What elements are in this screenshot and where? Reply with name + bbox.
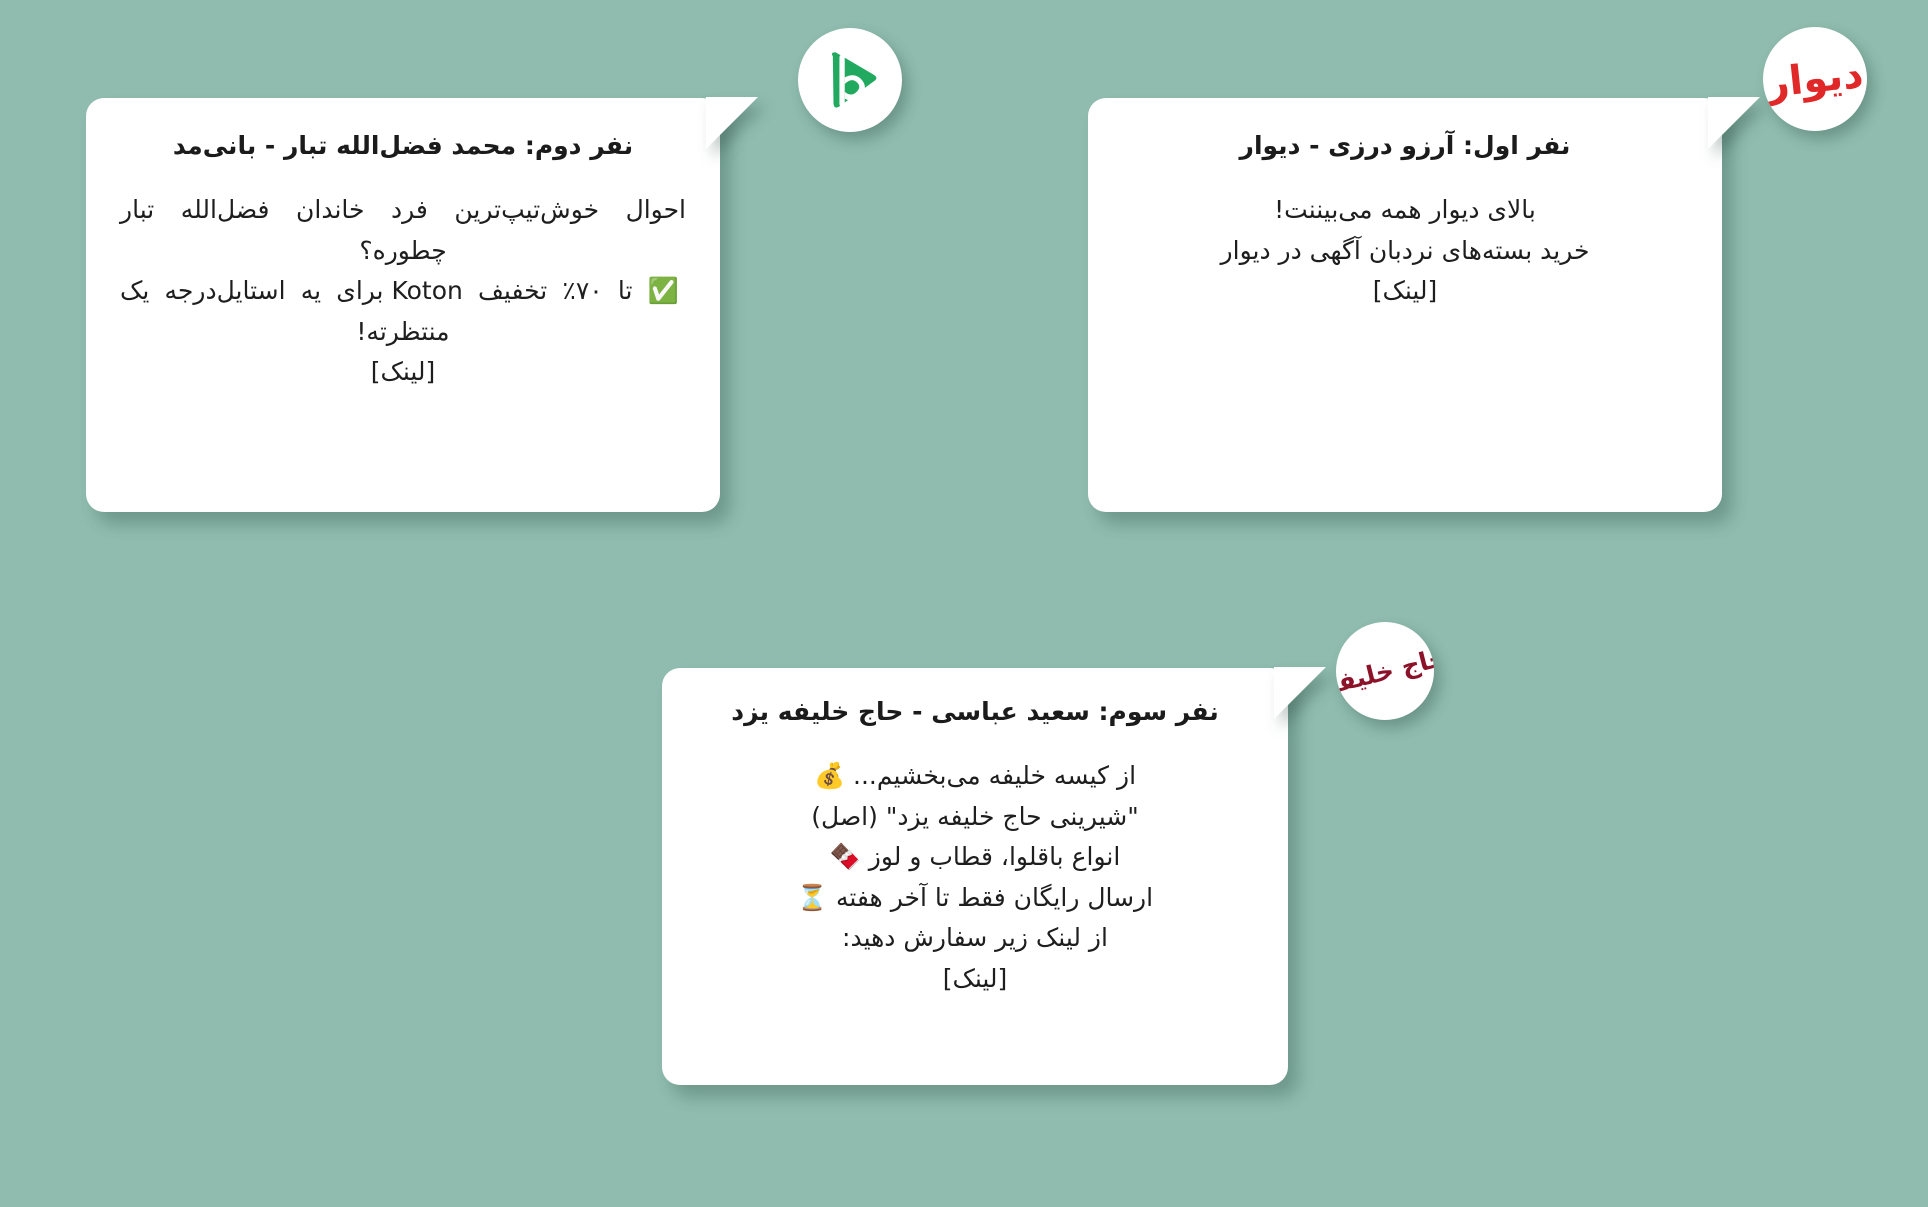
poster-canvas: نفر اول: آرزو درزی - دیوار بالای دیوار ه… (0, 0, 1928, 1207)
banimode-logo (798, 28, 902, 132)
bubble-tail-icon (1708, 97, 1760, 149)
bubble-content: نفر دوم: محمد فضل‌الله تبار - بانی‌مد اح… (86, 98, 720, 419)
divar-logo: دیوار (1763, 27, 1867, 131)
bubble-link[interactable]: [لینک] (696, 959, 1254, 1000)
divar-wordmark: دیوار (1764, 54, 1865, 104)
bubble-title: نفر سوم: سعید عباسی - حاج خلیفه یزد (696, 694, 1254, 730)
bubble-content: نفر اول: آرزو درزی - دیوار بالای دیوار ه… (1088, 98, 1722, 338)
bubble-tail-icon (706, 97, 758, 149)
haj-khalifeh-wordmark: حاج خلیفه (1336, 644, 1434, 699)
haj-khalifeh-logo: حاج خلیفه (1336, 622, 1434, 720)
bubble-link[interactable]: [لینک] (1122, 271, 1688, 312)
bubble-title: نفر اول: آرزو درزی - دیوار (1122, 128, 1688, 164)
bubble-body: احوال خوش‌تیپ‌ترین فرد خاندان فضل‌الله ت… (120, 190, 686, 393)
bubble-line: احوال خوش‌تیپ‌ترین فرد خاندان فضل‌الله ت… (120, 190, 686, 271)
bubble-title: نفر دوم: محمد فضل‌الله تبار - بانی‌مد (120, 128, 686, 164)
bubble-body: بالای دیوار همه می‌بیننت! خرید بسته‌های … (1122, 190, 1688, 312)
bubble-tail-icon (1274, 667, 1326, 719)
bubble-line: بالای دیوار همه می‌بیننت! (1122, 190, 1688, 231)
bubble-line: ✅ تا ۷۰٪ تخفیف Koton برای یه استایل‌درجه… (120, 271, 686, 352)
bubble-line: از لینک زیر سفارش دهید: (696, 918, 1254, 959)
bubble-content: نفر سوم: سعید عباسی - حاج خلیفه یزد از ک… (662, 668, 1288, 1025)
bubble-line: انواع باقلوا، قطاب و لوز 🍫 (696, 837, 1254, 878)
speech-bubble-divar: نفر اول: آرزو درزی - دیوار بالای دیوار ه… (1088, 98, 1722, 512)
banimode-b-play-icon (817, 47, 883, 113)
bubble-line: خرید بسته‌های نردبان آگهی در دیوار (1122, 231, 1688, 272)
speech-bubble-hajkhalifeh: نفر سوم: سعید عباسی - حاج خلیفه یزد از ک… (662, 668, 1288, 1085)
bubble-line: ارسال رایگان فقط تا آخر هفته ⏳ (696, 878, 1254, 919)
bubble-line: "شیرینی حاج خلیفه یزد" (اصل) (696, 797, 1254, 838)
bubble-line: از کیسه خلیفه می‌بخشیم... 💰 (696, 756, 1254, 797)
speech-bubble-banimode: نفر دوم: محمد فضل‌الله تبار - بانی‌مد اح… (86, 98, 720, 512)
bubble-body: از کیسه خلیفه می‌بخشیم... 💰 "شیرینی حاج … (696, 756, 1254, 999)
bubble-link[interactable]: [لینک] (120, 352, 686, 393)
